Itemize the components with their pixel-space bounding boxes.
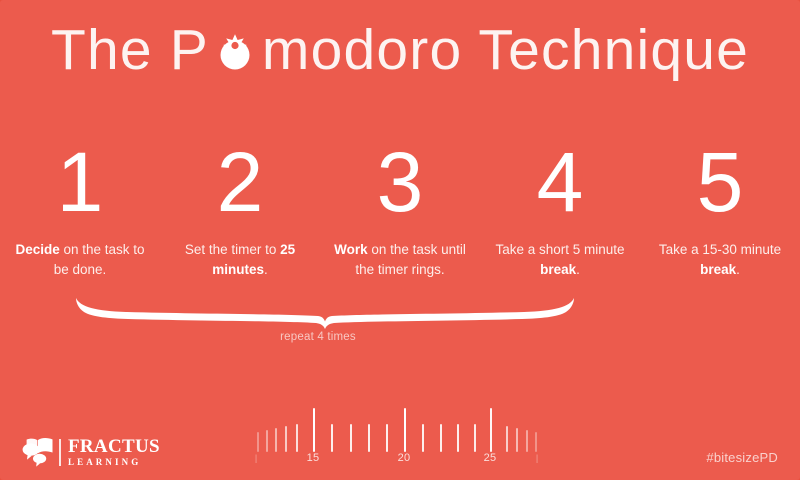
step-4-suffix: . bbox=[576, 262, 580, 277]
ruler-tick bbox=[350, 424, 352, 452]
steps-row: 1 Decide on the task to be done. 2 Set t… bbox=[0, 140, 800, 280]
ruler-end-mark: | bbox=[255, 453, 257, 463]
step-4-text: Take a short 5 minute break. bbox=[480, 240, 640, 280]
ruler-tick bbox=[516, 428, 518, 452]
ruler-tick bbox=[404, 408, 406, 452]
ruler-ticks bbox=[250, 404, 550, 452]
step-4-number: 4 bbox=[480, 140, 640, 226]
step-5-number: 5 bbox=[640, 140, 800, 226]
ruler-label: 25 bbox=[484, 452, 497, 464]
step-2-number: 2 bbox=[160, 140, 320, 226]
ruler-tick bbox=[313, 408, 315, 452]
timer-ruler: 152025|| bbox=[250, 404, 550, 474]
book-speech-bubble-icon bbox=[22, 437, 56, 467]
ruler-labels: 152025|| bbox=[250, 452, 550, 472]
ruler-tick bbox=[266, 430, 268, 452]
ruler-tick bbox=[457, 424, 459, 452]
page-title: The P modoro Technique bbox=[0, 22, 800, 79]
step-1: 1 Decide on the task to be done. bbox=[0, 140, 160, 280]
ruler-tick bbox=[440, 424, 442, 452]
pomodoro-infographic: The P modoro Technique 1 Decide on the t… bbox=[0, 0, 800, 480]
step-4-prefix: Take a short 5 minute bbox=[495, 242, 624, 257]
step-1-emphasis: Decide bbox=[15, 242, 59, 257]
ruler-tick bbox=[257, 432, 259, 452]
ruler-label: 20 bbox=[398, 452, 411, 464]
step-2-text: Set the timer to 25 minutes. bbox=[160, 240, 320, 280]
step-1-number: 1 bbox=[0, 140, 160, 226]
tomato-icon bbox=[213, 22, 257, 79]
brand-logo[interactable]: FRACTUS LEARNING bbox=[22, 437, 160, 467]
repeat-label: repeat 4 times bbox=[218, 331, 418, 343]
step-2-suffix: . bbox=[264, 262, 268, 277]
step-4: 4 Take a short 5 minute break. bbox=[480, 140, 640, 280]
ruler-tick bbox=[275, 428, 277, 452]
page-title-part-after: modoro Technique bbox=[262, 22, 749, 79]
step-3-number: 3 bbox=[320, 140, 480, 226]
ruler-tick bbox=[368, 424, 370, 452]
step-5-emphasis: break bbox=[700, 262, 736, 277]
hashtag: #bitesizePD bbox=[706, 450, 778, 465]
ruler-tick bbox=[506, 426, 508, 452]
logo-divider bbox=[59, 439, 61, 466]
ruler-tick bbox=[490, 408, 492, 452]
step-5-text: Take a 15-30 minute break. bbox=[640, 240, 800, 280]
page-title-part-before: The P bbox=[51, 22, 209, 79]
step-3-text: Work on the task until the timer rings. bbox=[320, 240, 480, 280]
ruler-end-mark: | bbox=[536, 453, 538, 463]
logo-primary-text: FRACTUS bbox=[68, 437, 160, 456]
logo-wordmark: FRACTUS LEARNING bbox=[68, 437, 160, 467]
step-5-suffix: . bbox=[736, 262, 740, 277]
ruler-tick bbox=[331, 424, 333, 452]
ruler-tick bbox=[474, 424, 476, 452]
step-4-emphasis: break bbox=[540, 262, 576, 277]
step-3-emphasis: Work bbox=[334, 242, 368, 257]
ruler-tick bbox=[285, 426, 287, 452]
repeat-brace bbox=[70, 296, 580, 332]
ruler-tick bbox=[386, 424, 388, 452]
ruler-tick bbox=[422, 424, 424, 452]
step-3-rest: on the task until the timer rings. bbox=[355, 242, 466, 277]
step-2: 2 Set the timer to 25 minutes. bbox=[160, 140, 320, 280]
logo-secondary-text: LEARNING bbox=[68, 458, 160, 467]
step-2-prefix: Set the timer to bbox=[185, 242, 280, 257]
step-3: 3 Work on the task until the timer rings… bbox=[320, 140, 480, 280]
ruler-tick bbox=[535, 432, 537, 452]
step-5-prefix: Take a 15-30 minute bbox=[659, 242, 781, 257]
ruler-label: 15 bbox=[307, 452, 320, 464]
ruler-tick bbox=[296, 424, 298, 452]
ruler-tick bbox=[526, 430, 528, 452]
step-1-rest: on the task to be done. bbox=[54, 242, 145, 277]
step-1-text: Decide on the task to be done. bbox=[0, 240, 160, 280]
step-5: 5 Take a 15-30 minute break. bbox=[640, 140, 800, 280]
